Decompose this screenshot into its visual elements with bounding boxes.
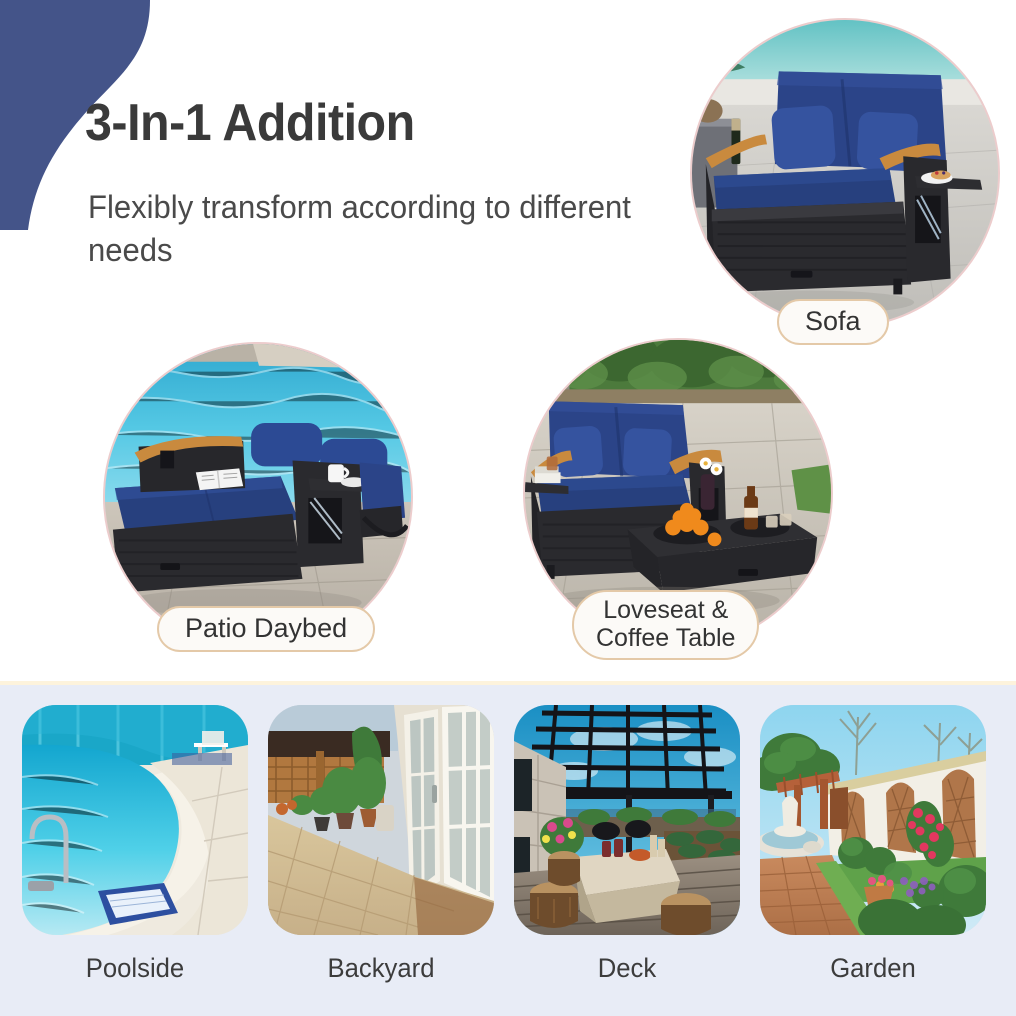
- scene-label-garden: Garden: [766, 953, 981, 984]
- product-caption-loveseat: Loveseat & Coffee Table: [572, 590, 759, 660]
- backyard-photo: [268, 705, 494, 935]
- scene-thumbnail-poolside: [22, 705, 248, 935]
- product-caption-daybed: Patio Daybed: [157, 606, 375, 652]
- deck-photo: [514, 705, 740, 935]
- scene-thumbnail-deck: [514, 705, 740, 935]
- scene-thumbnail-backyard: [268, 705, 494, 935]
- scene-card-deck[interactable]: Deck: [514, 705, 740, 984]
- sofa-photo: [692, 20, 998, 326]
- poolside-photo: [22, 705, 248, 935]
- scene-card-poolside[interactable]: Poolside: [22, 705, 248, 984]
- garden-photo: [760, 705, 986, 935]
- product-caption-sofa: Sofa: [777, 299, 889, 345]
- hero-section: 3-In-1 Addition Flexibly transform accor…: [0, 0, 1016, 683]
- page-title: 3-In-1 Addition: [85, 96, 415, 151]
- page-subtitle: Flexibly transform according to differen…: [88, 186, 651, 271]
- usage-scenes-section: Poolside: [0, 685, 1016, 1016]
- scene-label-backyard: Backyard: [274, 953, 489, 984]
- scene-label-poolside: Poolside: [28, 953, 243, 984]
- scene-card-garden[interactable]: Garden: [760, 705, 986, 984]
- scene-thumbnail-garden: [760, 705, 986, 935]
- scene-label-deck: Deck: [520, 953, 735, 984]
- product-image-sofa[interactable]: [690, 18, 1000, 328]
- scene-card-backyard[interactable]: Backyard: [268, 705, 494, 984]
- daybed-photo: [105, 344, 411, 650]
